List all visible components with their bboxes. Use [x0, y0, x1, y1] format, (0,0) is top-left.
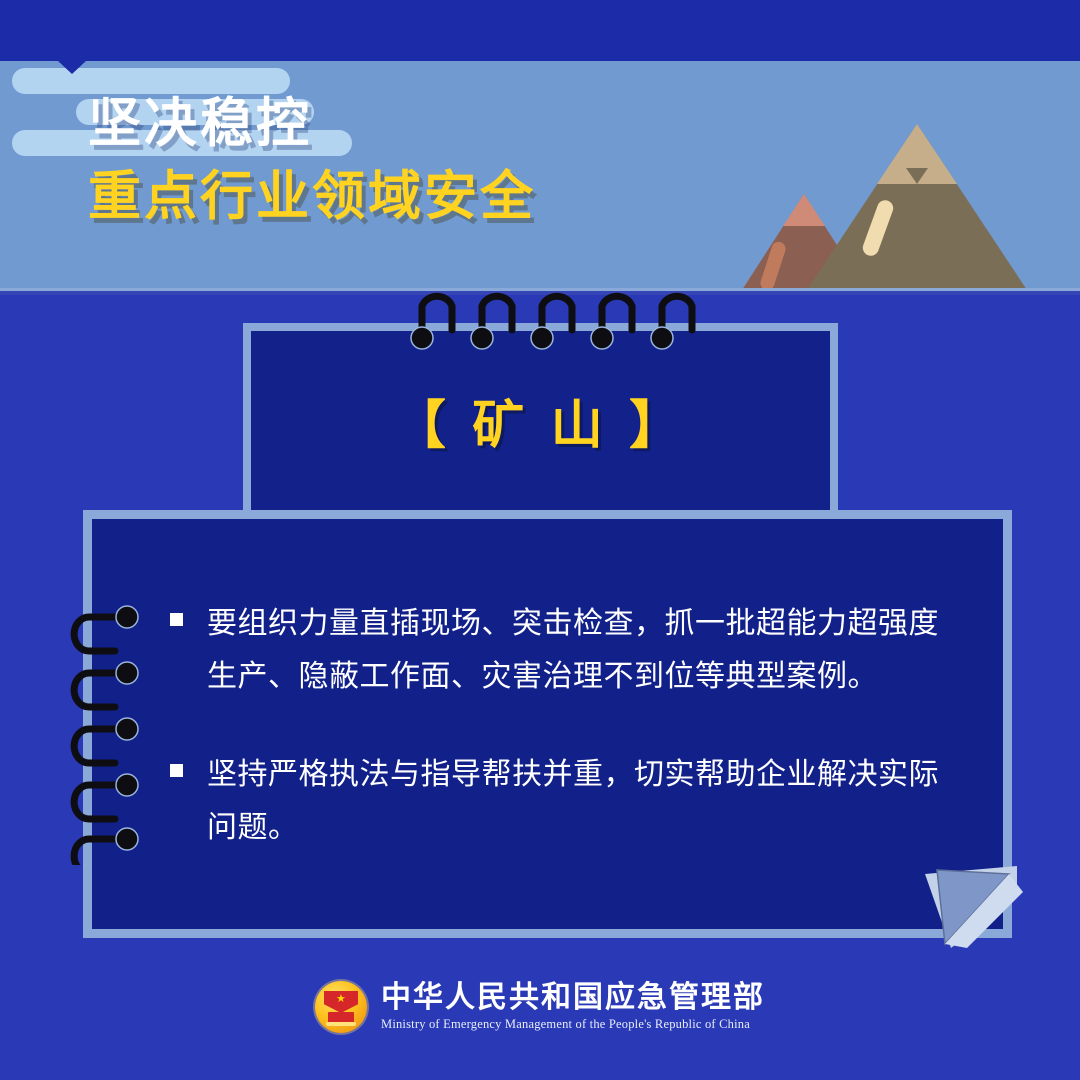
bullet-square-icon — [170, 613, 183, 626]
emblem-star: ★ — [336, 994, 346, 1005]
top-band-notch-icon — [58, 61, 86, 74]
footer-branding: ★ 中华人民共和国应急管理部 Ministry of Emergency Man… — [0, 962, 1080, 1052]
footer-text-block: 中华人民共和国应急管理部 Ministry of Emergency Manag… — [381, 982, 765, 1033]
mountain-center-cap-notch — [906, 168, 928, 184]
list-item: 坚持严格执法与指导帮扶并重，切实帮助企业解决实际问题。 — [170, 748, 947, 855]
china-national-emblem-icon: ★ — [315, 981, 367, 1033]
page-title: 坚决稳控 重点行业领域安全 — [88, 93, 536, 228]
spiral-binding-top — [400, 272, 700, 352]
organization-name-cn: 中华人民共和国应急管理部 — [381, 982, 765, 1014]
list-item: 要组织力量直插现场、突击检查，抓一批超能力超强度生产、隐蔽工作面、灾害治理不到位… — [170, 597, 947, 704]
poster-canvas: 坚决稳控 重点行业领域安全 【 矿 山 】 — [0, 0, 1080, 1080]
spiral-binding-left — [55, 595, 155, 865]
content-card-inner: 要组织力量直插现场、突击检查，抓一批超能力超强度生产、隐蔽工作面、灾害治理不到位… — [92, 519, 1003, 929]
emblem-gear-band — [326, 1022, 356, 1026]
spiral-binding-top-icon — [400, 272, 700, 352]
headline-line-1: 坚决稳控 — [88, 93, 536, 156]
headline-line-2: 重点行业领域安全 — [88, 166, 536, 229]
page-fold-corner — [905, 852, 1045, 962]
list-item-text: 要组织力量直插现场、突击检查，抓一批超能力超强度生产、隐蔽工作面、灾害治理不到位… — [207, 597, 947, 704]
organization-name-en: Ministry of Emergency Management of the … — [381, 1017, 765, 1032]
bullet-square-icon — [170, 764, 183, 777]
page-fold-corner-icon — [905, 852, 1045, 962]
section-header-card: 【 矿 山 】 — [243, 323, 838, 518]
section-title: 【 矿 山 】 — [394, 383, 687, 458]
spiral-binding-left-icon — [55, 595, 155, 865]
top-decorative-band — [0, 0, 1080, 61]
content-card: 要组织力量直插现场、突击检查，抓一批超能力超强度生产、隐蔽工作面、灾害治理不到位… — [83, 510, 1012, 938]
cloud-bar-6 — [130, 68, 290, 94]
section-header-card-inner: 【 矿 山 】 — [251, 331, 830, 510]
list-item-text: 坚持严格执法与指导帮扶并重，切实帮助企业解决实际问题。 — [207, 748, 947, 855]
